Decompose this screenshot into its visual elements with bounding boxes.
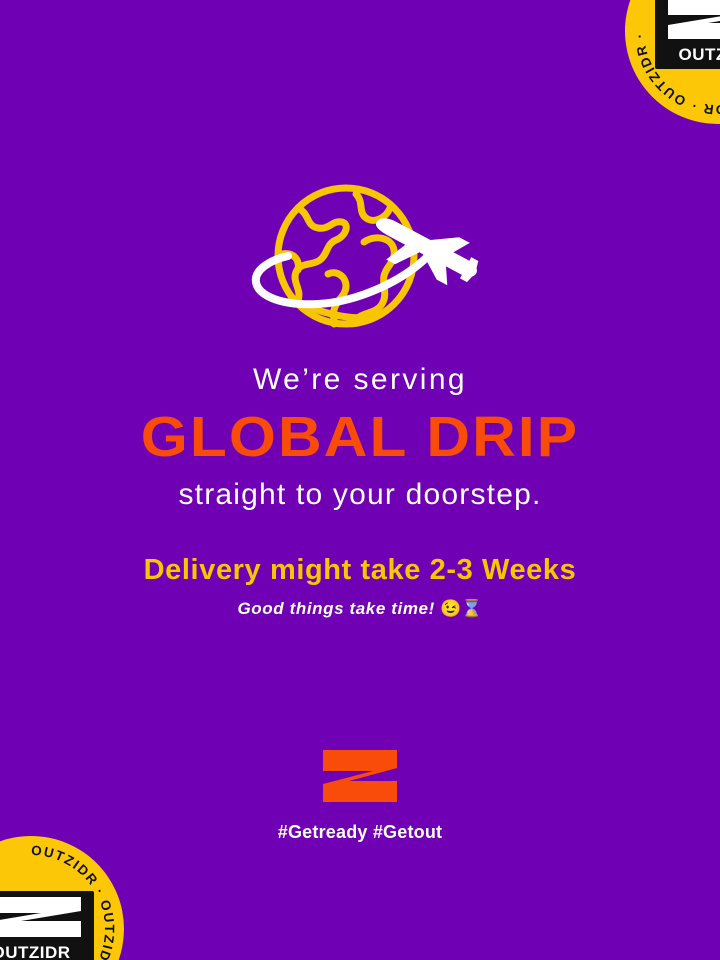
badge-wordmark-top-right: OUTZIDR bbox=[662, 43, 720, 65]
reassurance-text: Good things take time! 😉⌛ bbox=[0, 598, 720, 620]
subhead-text: straight to your doorstep. bbox=[0, 477, 720, 513]
outzidr-badge-top-right: OUTZIDR · OUTZIDR · OUTZIDR · OUTZIDR · … bbox=[625, 0, 720, 124]
badge-core-bottom-left: OUTZIDR bbox=[0, 891, 94, 960]
eyebrow-text: We’re serving bbox=[0, 362, 720, 398]
reassurance-label: Good things take time! bbox=[237, 599, 434, 618]
badge-core-top-right: OUTZIDR bbox=[655, 0, 720, 69]
outzidr-badge-bottom-left: OUTZIDR · OUTZIDR · OUTZIDR · OUTZIDR · … bbox=[0, 836, 124, 960]
outzidr-z-logo-badge-bottom-left bbox=[0, 896, 83, 938]
promo-poster: We’re serving GLOBAL DRIP straight to yo… bbox=[0, 0, 720, 960]
wink-hourglass-emoji: 😉⌛ bbox=[440, 599, 482, 618]
delivery-notice: Delivery might take 2-3 Weeks bbox=[0, 553, 720, 587]
poster-footer: #Getready #Getout bbox=[0, 748, 720, 843]
svg-text:OUTZIDR: OUTZIDR bbox=[678, 45, 720, 64]
svg-text:OUTZIDR: OUTZIDR bbox=[0, 943, 71, 960]
page-title: GLOBAL DRIP bbox=[0, 406, 720, 468]
outzidr-z-logo bbox=[319, 748, 401, 804]
poster-copy: We’re serving GLOBAL DRIP straight to yo… bbox=[0, 362, 720, 620]
outzidr-z-logo-badge-top-right bbox=[666, 0, 720, 40]
globe-airplane-icon bbox=[236, 178, 484, 344]
badge-wordmark-bottom-left: OUTZIDR bbox=[0, 941, 87, 960]
